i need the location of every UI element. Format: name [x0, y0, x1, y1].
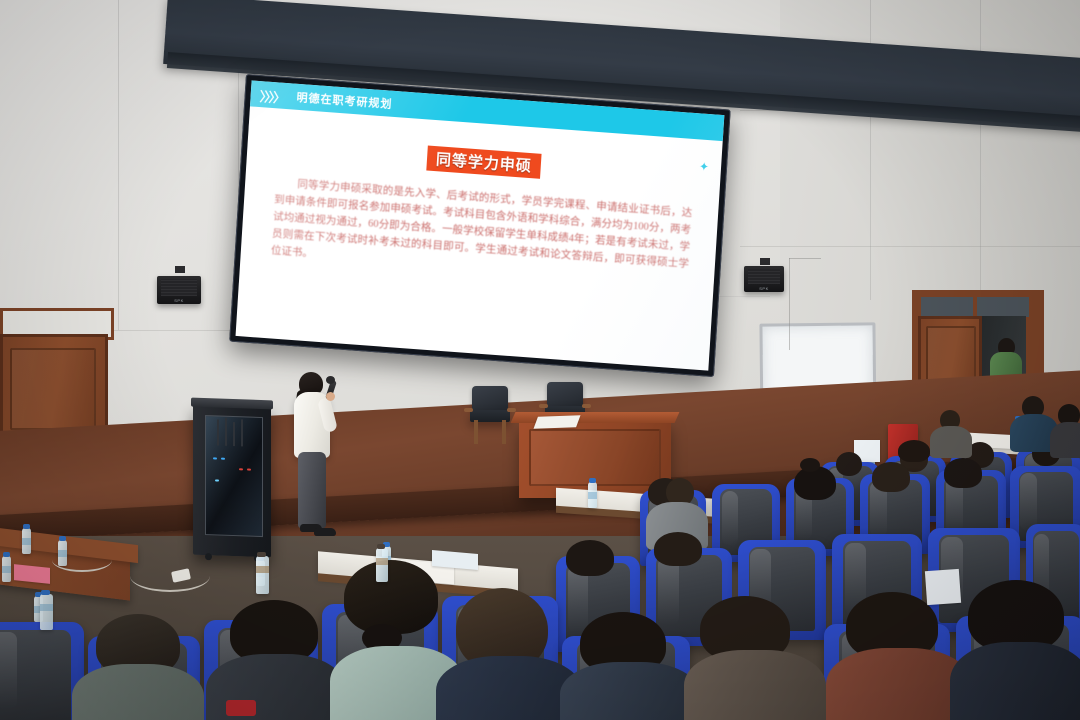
chevron-right-icon: 〉〉〉〉 — [259, 86, 285, 107]
audience-hair — [654, 532, 702, 566]
chair-armrest — [539, 404, 548, 408]
rack-top-plate — [191, 398, 273, 410]
seat-highlight — [1020, 473, 1037, 530]
presenter-shoe — [314, 528, 336, 536]
speaker-brand-label: SPK — [744, 286, 784, 291]
wall-panel-seam — [0, 0, 119, 330]
stacked-papers[interactable] — [925, 569, 961, 605]
screen-surface: 〉〉〉〉 明德在职考研规划 ✦ 同等学力申硕 同等学力申硕采取的是先入学、后考试… — [236, 80, 725, 370]
podium-papers[interactable] — [534, 415, 581, 428]
water-bottle[interactable] — [40, 594, 53, 630]
door-panel — [10, 348, 96, 430]
slide-brand-label: 明德在职考研规划 — [296, 89, 393, 112]
audience-body — [950, 642, 1080, 720]
chair-back — [547, 382, 583, 408]
chair-back — [472, 386, 508, 412]
rack-antenna — [217, 419, 219, 445]
floor-cable — [130, 560, 210, 592]
audience-hair — [344, 560, 438, 634]
speaker-brand-label: SPK — [157, 298, 201, 303]
bottle-cap — [377, 544, 385, 549]
bottle-cap — [3, 552, 10, 557]
speaker-cable — [789, 258, 821, 259]
rack-status-led — [239, 468, 243, 470]
slide-body-text: 同等学力申硕采取的是先入学、后考试的形式，学员学完课程、申请结业证书后，达到申请… — [270, 174, 692, 289]
wall-speaker-left: SPK — [157, 276, 201, 304]
audience-body — [72, 664, 204, 720]
bottle-cap — [257, 552, 266, 557]
floor-cable — [52, 548, 112, 572]
audience-head — [836, 452, 862, 476]
bottle-cap — [41, 590, 50, 595]
speaker-mount — [175, 266, 185, 273]
av-equipment-rack[interactable] — [193, 405, 271, 558]
rack-status-led — [247, 469, 251, 471]
chair-leg — [474, 420, 478, 444]
rack-antenna — [233, 422, 235, 446]
audience-hair — [898, 440, 930, 462]
slide-paragraph: 同等学力申硕采取的是先入学、后考试的形式，学员学完课程、申请结业证书后，达到申请… — [271, 179, 693, 270]
bottle-label — [2, 566, 11, 573]
bottle-cap — [59, 536, 66, 541]
presenter-legs — [298, 452, 326, 528]
bottle-label — [22, 538, 31, 545]
audience-body — [684, 650, 826, 720]
water-bottle[interactable] — [588, 482, 597, 508]
chair-leg — [502, 420, 506, 444]
speaker-cable — [789, 258, 790, 350]
audience-hair — [566, 540, 614, 576]
rack-caster — [205, 553, 212, 560]
audience-hair — [944, 458, 982, 488]
bottle-label — [376, 558, 388, 565]
bottle-label — [588, 492, 597, 499]
water-bottle[interactable] — [376, 548, 388, 582]
speaker-mount — [760, 258, 770, 265]
bottle-label — [40, 604, 53, 611]
rack-status-led — [221, 458, 225, 460]
audience-hair — [872, 462, 910, 492]
audience-body — [560, 662, 700, 720]
wall-seam — [740, 246, 1080, 247]
seat-highlight — [658, 557, 679, 626]
seat-highlight — [722, 491, 738, 546]
chair-armrest — [582, 404, 591, 408]
podium-chair[interactable] — [468, 386, 512, 444]
wall-speaker-right: SPK — [744, 266, 784, 292]
speaker-grill — [161, 279, 197, 296]
water-bottle[interactable] — [256, 556, 269, 594]
projection-screen[interactable]: 〉〉〉〉 明德在职考研规划 ✦ 同等学力申硕 同等学力申硕采取的是先入学、后考试… — [229, 74, 731, 377]
rack-antenna — [241, 419, 243, 446]
rack-status-led — [215, 479, 219, 481]
slide-title-text: 同等学力申硕 — [426, 146, 541, 179]
presenter-hand — [326, 392, 335, 401]
rack-antenna — [225, 418, 227, 446]
microphone-head — [326, 376, 335, 384]
bottle-cap — [589, 478, 596, 483]
seat-highlight — [0, 632, 17, 709]
water-bottle[interactable] — [2, 556, 11, 582]
speaker-grill — [748, 269, 780, 284]
rack-status-led — [213, 457, 217, 459]
audience-body — [1050, 422, 1080, 458]
lecture-hall-photo: 〉〉〉〉 明德在职考研规划 ✦ 同等学力申硕 同等学力申硕采取的是先入学、后考试… — [0, 0, 1080, 720]
chair-armrest — [464, 408, 473, 412]
audience-body — [930, 426, 972, 458]
phone-device[interactable] — [226, 700, 256, 716]
audience-hair — [794, 466, 836, 500]
audience-hair-bun — [800, 458, 820, 472]
water-bottle[interactable] — [22, 528, 31, 554]
bottle-label — [256, 566, 269, 573]
bottle-cap — [23, 524, 30, 529]
